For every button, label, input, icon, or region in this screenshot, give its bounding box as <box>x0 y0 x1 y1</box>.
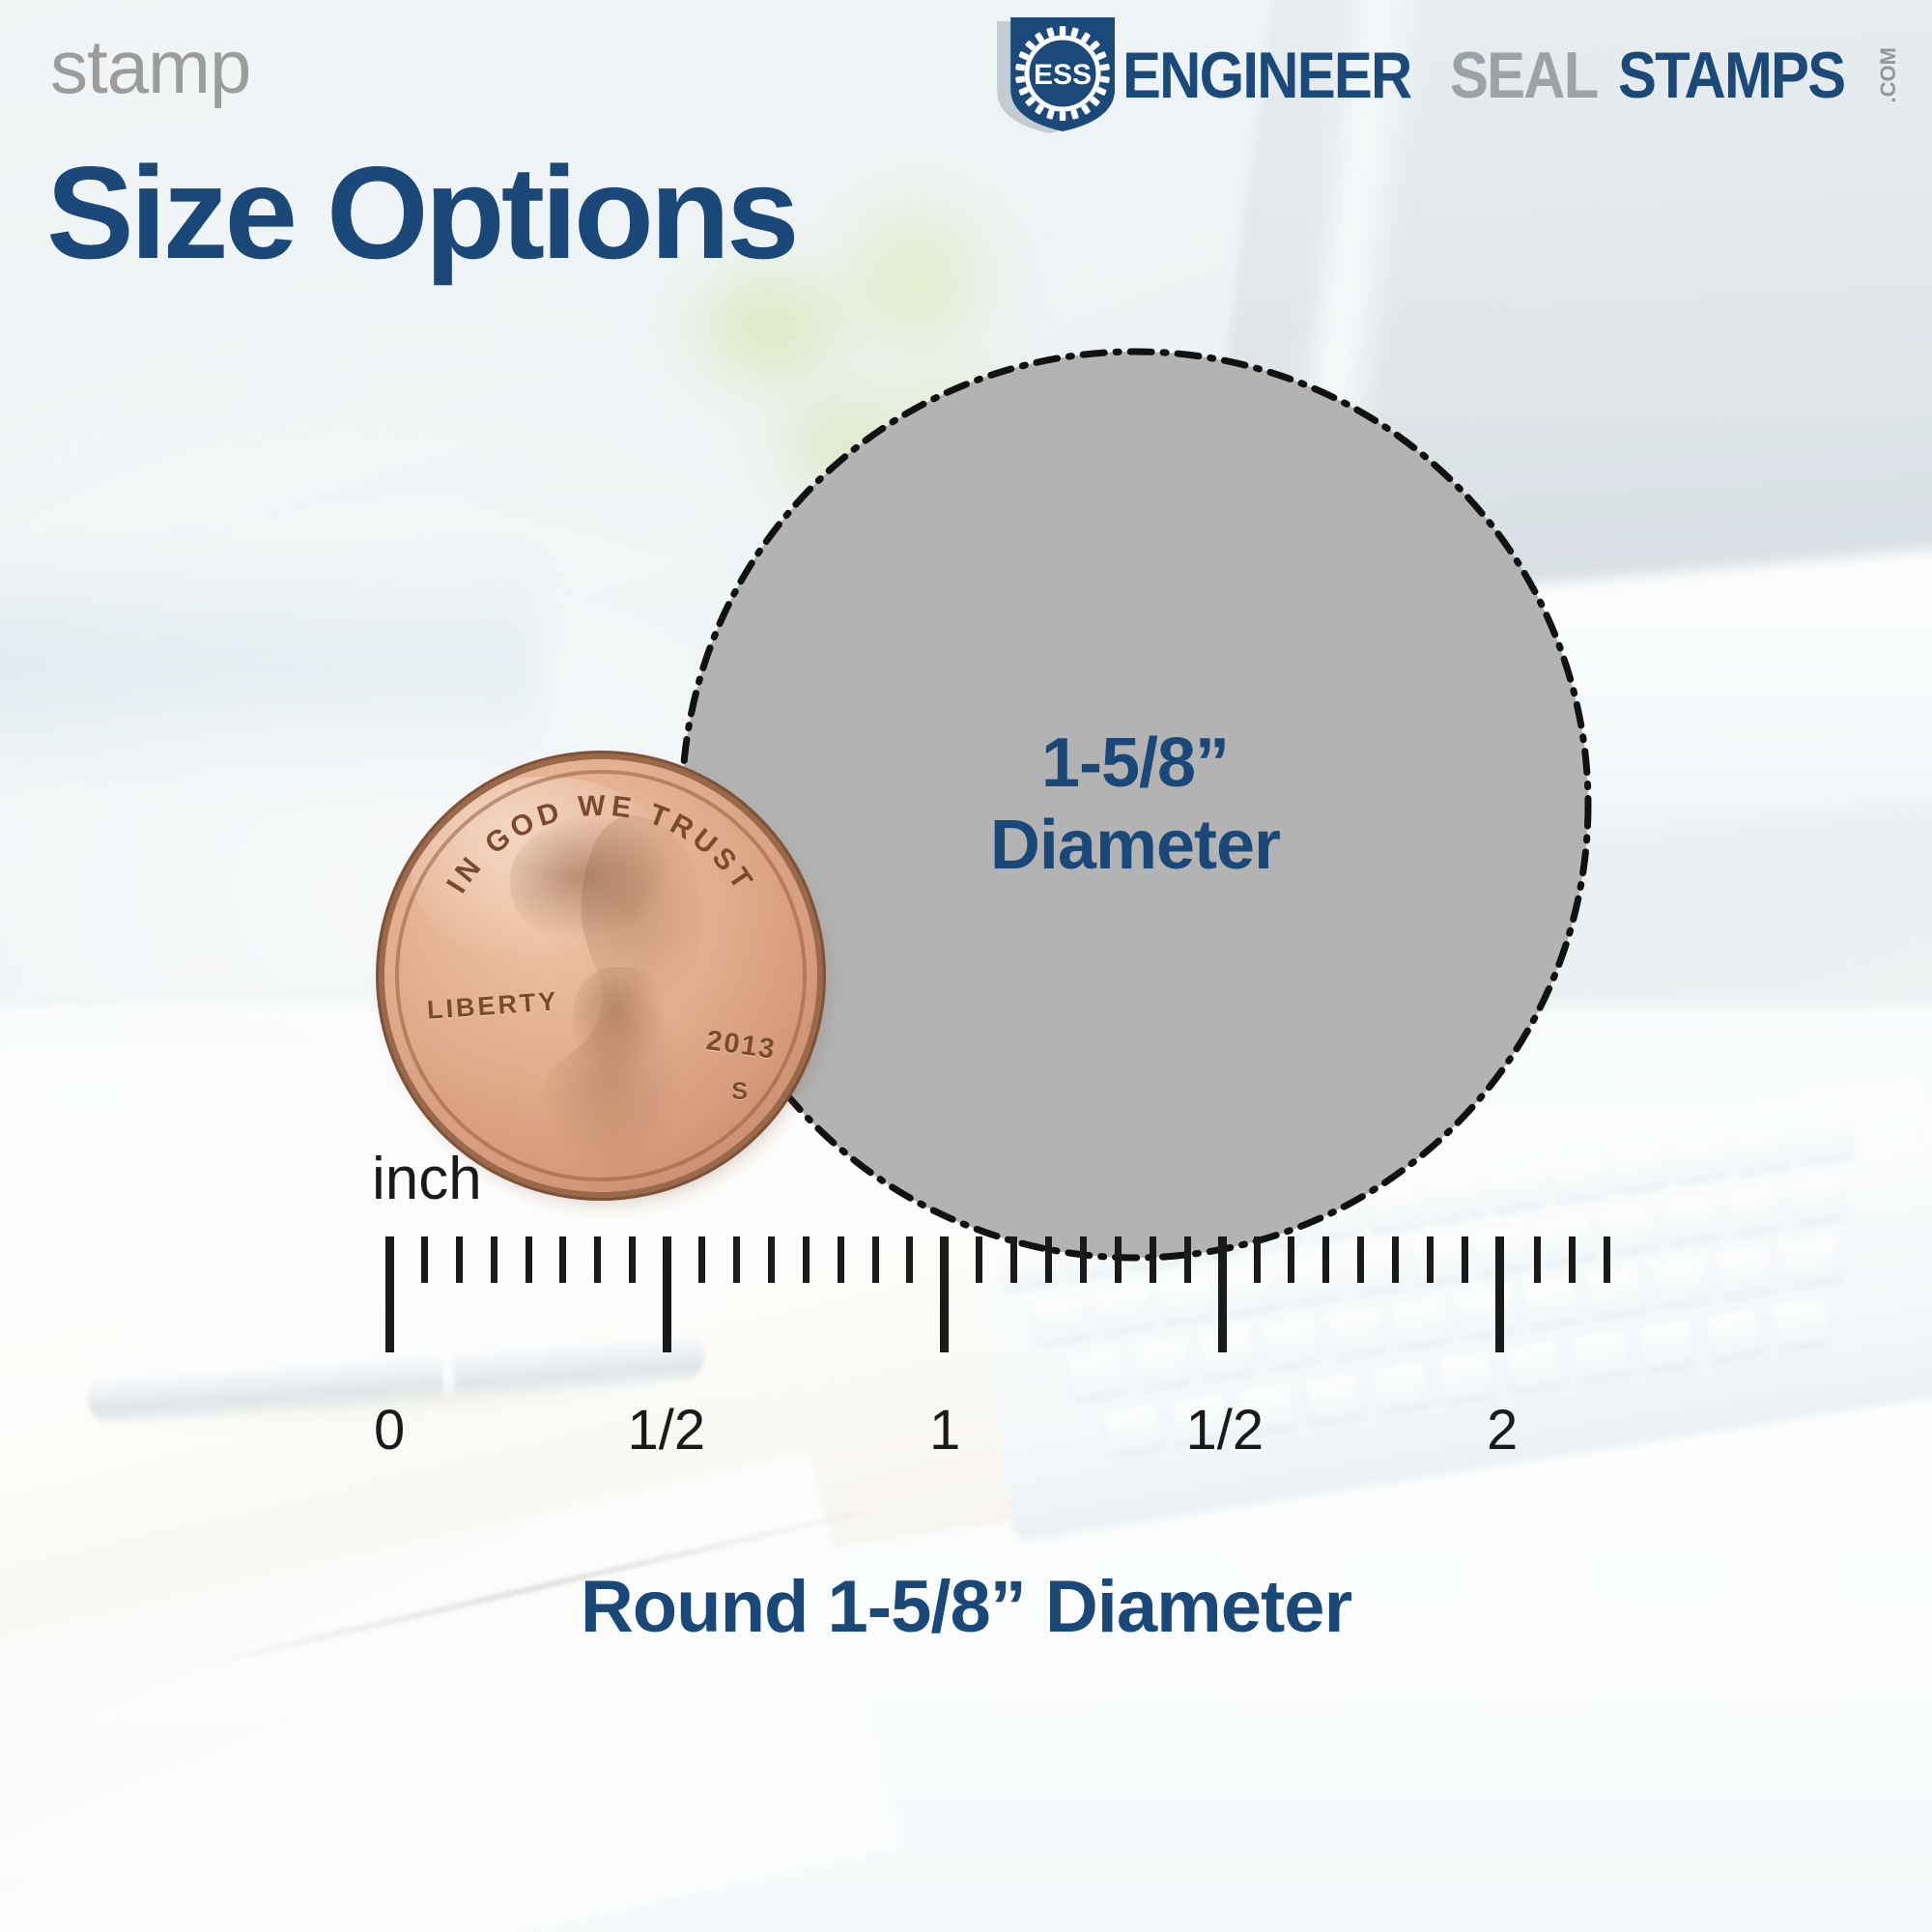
ruler-minor-tick <box>1150 1236 1156 1283</box>
ruler-major-tick <box>385 1236 394 1352</box>
ruler-minor-tick <box>421 1236 428 1283</box>
ruler-minor-tick <box>1115 1236 1122 1283</box>
ruler-minor-tick <box>559 1236 566 1283</box>
ruler-minor-tick <box>733 1236 740 1283</box>
page-title: Size Options <box>46 147 796 278</box>
ruler-minor-tick <box>526 1236 532 1283</box>
ruler-minor-tick <box>872 1236 879 1283</box>
size-circle-dimension: 1-5/8” <box>1041 723 1229 805</box>
ruler: inch 01/211/22 <box>0 1236 1932 1526</box>
ruler-minor-tick <box>976 1236 982 1283</box>
logo-part-stamps: STAMPS <box>1618 43 1844 108</box>
ruler-minor-tick <box>1254 1236 1261 1283</box>
ess-monogram: ESS <box>1034 59 1092 91</box>
coin-rim <box>395 770 807 1181</box>
ruler-label: 2 <box>1487 1403 1518 1459</box>
ruler-minor-tick <box>1045 1236 1052 1283</box>
ruler-minor-tick <box>1392 1236 1399 1283</box>
ruler-minor-tick <box>1322 1236 1329 1283</box>
logo-part-seal: SEAL <box>1450 43 1598 108</box>
ruler-major-tick <box>940 1236 949 1352</box>
ruler-minor-tick <box>906 1236 913 1283</box>
ruler-label: 1 <box>929 1403 960 1459</box>
ruler-minor-tick <box>1357 1236 1364 1283</box>
ess-logo-wordmark: ENGINEER SEAL STAMPS .COM <box>1122 43 1899 108</box>
ruler-minor-tick <box>803 1236 810 1283</box>
ruler-minor-tick <box>491 1236 497 1283</box>
ess-shield-icon: ESS <box>997 17 1115 133</box>
ruler-minor-tick <box>1010 1236 1017 1283</box>
ruler-minor-tick <box>1184 1236 1191 1283</box>
ruler-minor-tick <box>1427 1236 1434 1283</box>
ruler-label: 1/2 <box>1186 1403 1264 1459</box>
penny-coin: IN GOD WE TRUST LIBERTY 2013 S <box>384 759 817 1192</box>
ruler-minor-tick <box>1462 1236 1468 1283</box>
logo-part-engineer: ENGINEER <box>1122 43 1410 108</box>
ruler-minor-tick <box>1288 1236 1294 1283</box>
brand-word: stamp <box>50 29 250 104</box>
size-caption: Round 1-5/8” Diameter <box>0 1565 1932 1649</box>
ess-logo[interactable]: ESS ENGINEER SEAL STAMPS .COM <box>997 17 1899 133</box>
size-preview-circle: 1-5/8” Diameter <box>682 352 1588 1258</box>
ruler-label: 0 <box>374 1403 405 1459</box>
ruler-major-tick <box>1495 1236 1504 1352</box>
page-content: stamp Size Options ESS ENGINEER SEAL STA… <box>0 0 1932 1932</box>
ruler-minor-tick <box>456 1236 463 1283</box>
size-circle-unit: Diameter <box>990 805 1280 887</box>
ruler-minor-tick <box>1534 1236 1541 1283</box>
ruler-minor-tick <box>698 1236 705 1283</box>
ruler-minor-tick <box>1569 1236 1576 1283</box>
ruler-unit-label: inch <box>372 1150 482 1209</box>
ruler-major-tick <box>1218 1236 1227 1352</box>
ruler-minor-tick <box>768 1236 775 1283</box>
ruler-minor-tick <box>838 1236 844 1283</box>
ruler-label: 1/2 <box>628 1403 706 1459</box>
ruler-major-tick <box>663 1236 671 1352</box>
ruler-minor-tick <box>594 1236 601 1283</box>
logo-part-com: .COM <box>1878 47 1899 102</box>
gear-icon: ESS <box>1010 17 1115 131</box>
ruler-minor-tick <box>629 1236 636 1283</box>
ruler-minor-tick <box>1604 1236 1610 1283</box>
ruler-minor-tick <box>1080 1236 1087 1283</box>
